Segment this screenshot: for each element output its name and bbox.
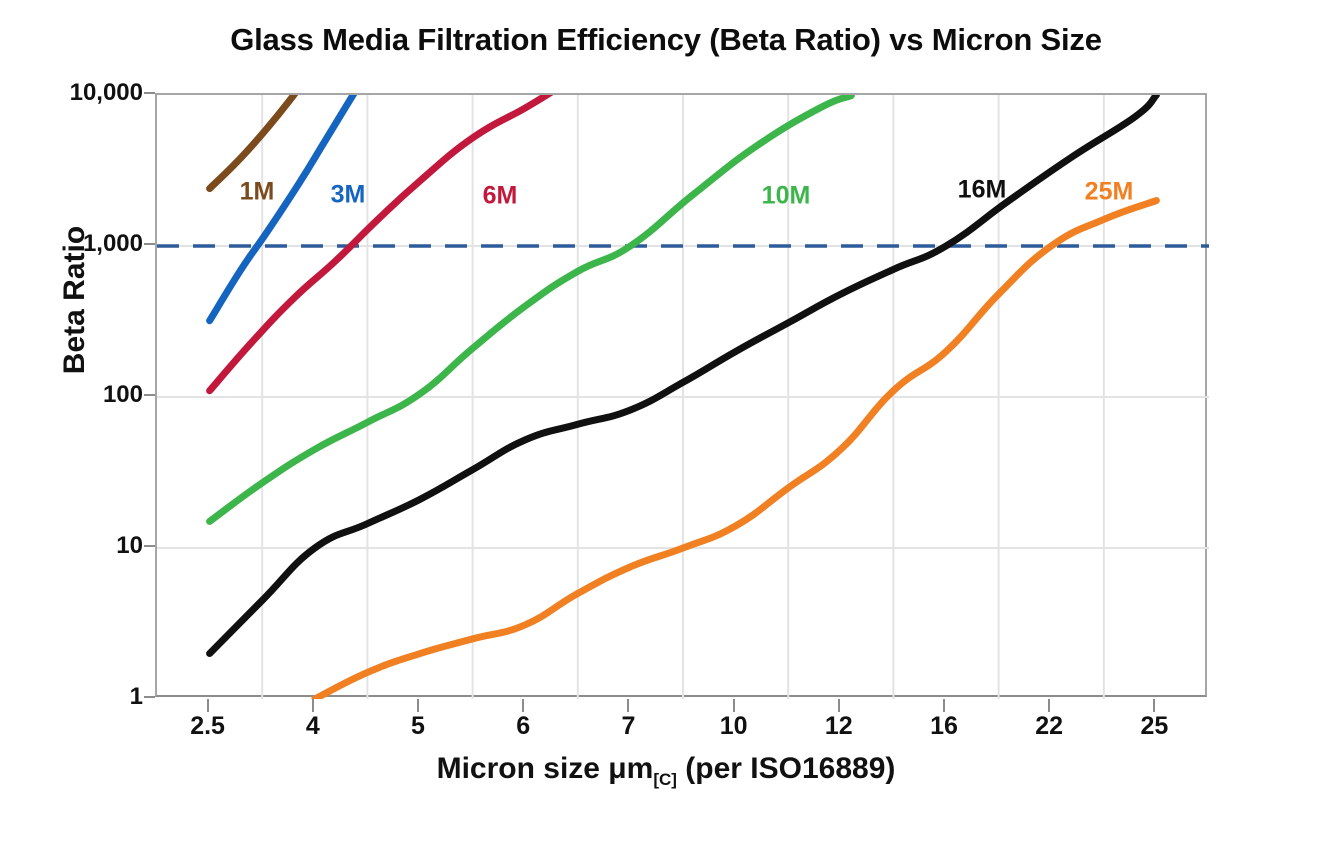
x-axis-tick-label: 25 — [1140, 712, 1168, 741]
x-axis-tick-mark — [522, 699, 524, 712]
x-axis-title: Micron size μm[C] (per ISO16889) — [0, 752, 1332, 790]
x-axis-tick-mark — [943, 699, 945, 712]
series-label-1m: 1M — [240, 178, 275, 207]
x-axis-tick-label: 6 — [516, 712, 530, 741]
series-label-6m: 6M — [483, 182, 518, 211]
x-axis-tick-label: 7 — [621, 712, 635, 741]
y-axis-tick-label: 10 — [0, 532, 143, 560]
y-axis-tick-label: 100 — [0, 381, 143, 409]
x-axis-title-tail: (per ISO16889) — [677, 752, 895, 785]
y-axis-tick-label: 1 — [0, 683, 143, 711]
x-axis-tick-label: 12 — [825, 712, 853, 741]
series-line-16m — [210, 95, 1157, 654]
y-axis-tick-mark — [144, 394, 155, 396]
y-axis-tick-mark — [144, 696, 155, 698]
x-axis-tick-mark — [417, 699, 419, 712]
x-axis-tick-mark — [312, 699, 314, 712]
x-axis-tick-mark — [627, 699, 629, 712]
series-line-25m — [315, 201, 1157, 699]
series-label-25m: 25M — [1085, 178, 1134, 207]
x-axis-tick-mark — [207, 699, 209, 712]
x-axis-tick-label: 5 — [411, 712, 425, 741]
series-label-16m: 16M — [958, 176, 1007, 205]
x-axis-tick-mark — [733, 699, 735, 712]
series-label-3m: 3M — [331, 181, 366, 210]
chart-container: Glass Media Filtration Efficiency (Beta … — [0, 0, 1332, 842]
x-axis-tick-mark — [1048, 699, 1050, 712]
x-axis-tick-label: 10 — [720, 712, 748, 741]
chart-title: Glass Media Filtration Efficiency (Beta … — [0, 22, 1332, 58]
series-line-10m — [210, 96, 852, 522]
x-axis-tick-label: 2.5 — [190, 712, 225, 741]
y-axis-tick-mark — [144, 545, 155, 547]
series-lines — [157, 95, 1209, 699]
x-axis-tick-mark — [838, 699, 840, 712]
x-axis-tick-label: 4 — [306, 712, 320, 741]
x-axis-title-main: Micron size μm — [437, 752, 654, 785]
y-axis-tick-mark — [144, 243, 155, 245]
y-axis-tick-mark — [144, 92, 155, 94]
x-axis-tick-label: 16 — [930, 712, 958, 741]
plot-area — [155, 93, 1207, 697]
y-axis-tick-label: 10,000 — [0, 79, 143, 107]
y-axis-tick-label: 1,000 — [0, 230, 143, 258]
x-axis-tick-mark — [1153, 699, 1155, 712]
x-axis-title-subscript: [C] — [653, 770, 677, 789]
x-axis-tick-label: 22 — [1035, 712, 1063, 741]
series-label-10m: 10M — [762, 182, 811, 211]
